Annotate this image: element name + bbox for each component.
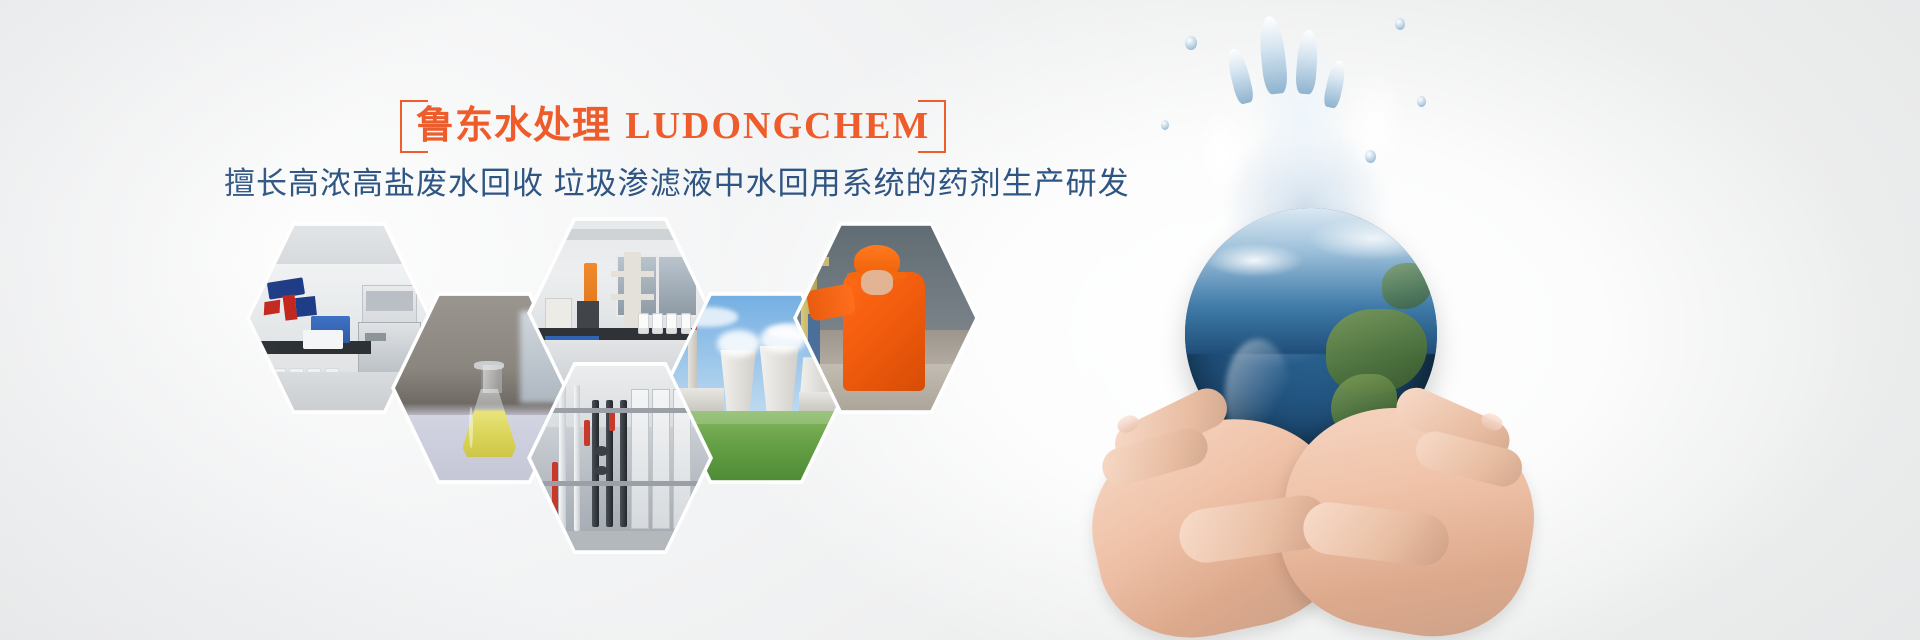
title-english: LUDONGCHEM (625, 105, 930, 147)
dark-pipe (620, 400, 627, 527)
water-droplet (1395, 18, 1405, 30)
glassware (638, 313, 649, 334)
worker-face (861, 270, 893, 295)
water-droplet (1161, 120, 1169, 130)
flask-highlight (469, 407, 473, 448)
headline-block: 鲁东水处理 LUDONGCHEM 擅长高浓高盐废水回收 垃圾渗滤液中水回用系统的… (400, 100, 1130, 202)
wall-slogan-arrow (264, 299, 281, 315)
dark-pipe (592, 400, 599, 527)
lab-oven (545, 298, 572, 333)
cupped-hands (1083, 352, 1533, 632)
water-droplet (1365, 150, 1376, 163)
white-instrument (303, 330, 342, 349)
title-chinese: 鲁东水处理 (416, 102, 611, 147)
title-bracket-frame: 鲁东水处理 LUDONGCHEM (400, 100, 946, 149)
red-valve-handle (584, 420, 589, 447)
vertical-pipe (559, 385, 565, 531)
water-droplet (1185, 36, 1197, 50)
dark-instrument (577, 301, 598, 330)
hero-banner: 鲁东水处理 LUDONGCHEM 擅长高浓高盐废水回收 垃圾渗滤液中水回用系统的… (0, 0, 1920, 640)
vertical-pipe (574, 385, 580, 531)
glassware (652, 313, 663, 334)
steam-plume (717, 330, 760, 357)
wall-slogan-text (295, 296, 316, 317)
water-globe-artwork (1065, 0, 1545, 640)
page-subtitle: 擅长高浓高盐废水回收 垃圾渗滤液中水回用系统的药剂生产研发 (224, 165, 1130, 202)
ceiling-beam (531, 229, 709, 241)
glassware (681, 313, 692, 334)
glassware (666, 313, 677, 334)
valve (595, 446, 607, 456)
flask-lip (474, 361, 504, 369)
erlenmeyer-flask (463, 365, 516, 457)
page-title: 鲁东水处理 LUDONGCHEM (416, 106, 930, 145)
pipe-rail (538, 408, 702, 413)
valve (595, 466, 607, 476)
water-droplet (1417, 96, 1426, 107)
pipe-rail (538, 481, 702, 486)
